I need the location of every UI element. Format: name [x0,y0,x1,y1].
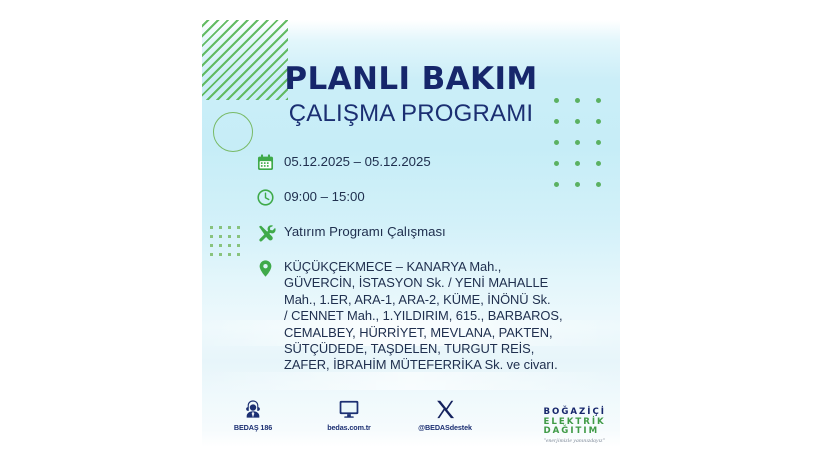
contact-channels: BEDAŞ 186 bedas.com.tr [218,394,480,432]
poster-footer: BEDAŞ 186 bedas.com.tr [202,388,620,447]
page-subtitle: ÇALIŞMA PROGRAMI [202,102,620,126]
brand-tagline: "enerjimizle yanınızdayız" [544,438,607,444]
bedas-logo: BOĞAZİÇİ ELEKTRİK DAĞITIM "enerjimizle y… [544,408,607,444]
square-dot-grid-decoration [210,226,246,262]
screenshot-root: PLANLI BAKIM ÇALIŞMA PROGRAMI [0,0,820,461]
contact-website-label: bedas.com.tr [314,423,384,432]
location-pin-icon [256,258,284,281]
tools-icon [256,223,284,245]
clock-icon [256,188,284,210]
contact-phone[interactable]: BEDAŞ 186 [218,394,288,432]
x-twitter-icon [410,394,480,420]
planned-maintenance-poster: PLANLI BAKIM ÇALIŞMA PROGRAMI [202,20,620,447]
maintenance-details: 05.12.2025 – 05.12.2025 09:00 – 15:00 [256,153,596,374]
monitor-icon [314,394,384,420]
contact-twitter[interactable]: @BEDASdestek [410,394,480,432]
page-title: PLANLI BAKIM [202,64,620,95]
detail-row-worktype: Yatırım Programı Çalışması [256,223,596,245]
detail-row-time: 09:00 – 15:00 [256,188,596,210]
contact-phone-label: BEDAŞ 186 [218,423,288,432]
contact-twitter-label: @BEDASdestek [410,423,480,432]
detail-time-text: 09:00 – 15:00 [284,188,365,205]
detail-address-text: KÜÇÜKÇEKMECE – KANARYA Mah., GÜVERCİN, İ… [284,258,562,374]
poster-title-block: PLANLI BAKIM ÇALIŞMA PROGRAMI [202,64,620,126]
calendar-icon [256,153,284,175]
brand-line-dagitim: DAĞITIM [544,427,607,437]
detail-row-address: KÜÇÜKÇEKMECE – KANARYA Mah., GÜVERCİN, İ… [256,258,596,374]
detail-date-text: 05.12.2025 – 05.12.2025 [284,153,431,170]
detail-row-date: 05.12.2025 – 05.12.2025 [256,153,596,175]
detail-worktype-text: Yatırım Programı Çalışması [284,223,446,240]
contact-website[interactable]: bedas.com.tr [314,394,384,432]
support-headset-icon [218,394,288,420]
